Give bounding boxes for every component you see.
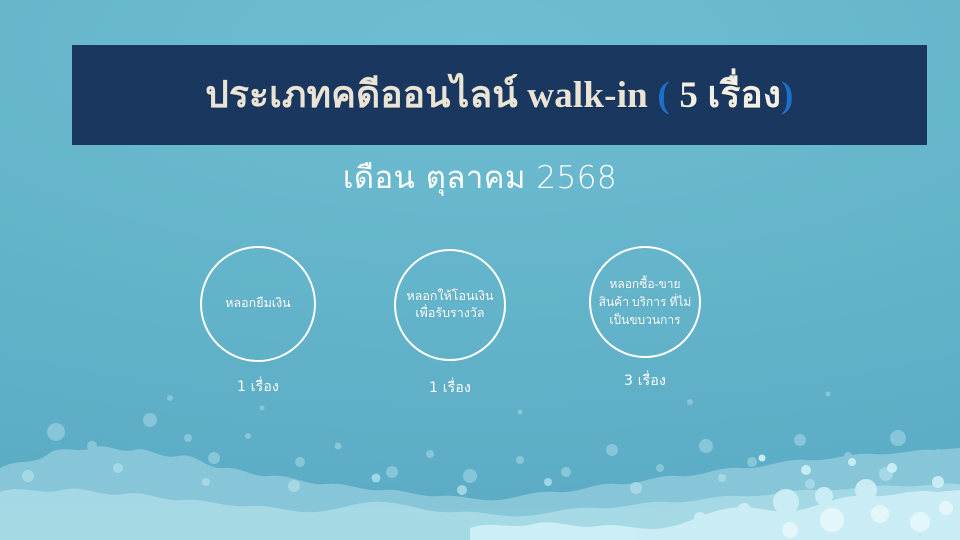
category-circles-row: หลอกยืมเงิน 1 เรื่อง หลอกให้โอนเงิน เพื่… — [0, 246, 960, 416]
circle-outline-0: หลอกยืมเงิน — [200, 246, 316, 362]
category-label-1: หลอกให้โอนเงิน เพื่อรับรางวัล — [400, 288, 499, 323]
page-title: ประเภทคดีออนไลน์ walk-in ( 5 เรื่อง) — [205, 77, 793, 114]
category-count-2: 3 เรื่อง — [565, 370, 725, 392]
page-subtitle: เดือน ตุลาคม 2568 — [0, 152, 960, 202]
category-node-0[interactable]: หลอกยืมเงิน 1 เรื่อง — [178, 246, 338, 398]
circle-outline-1: หลอกให้โอนเงิน เพื่อรับรางวัล — [394, 249, 506, 361]
title-paren-close: ) — [781, 75, 794, 116]
category-label-2: หลอกซื้อ-ขาย สินค้า บริการ ที่ไม่ เป็นขบ… — [593, 275, 698, 329]
category-count-1: 1 เรื่อง — [370, 377, 530, 399]
slide-canvas: ประเภทคดีออนไลน์ walk-in ( 5 เรื่อง) เดื… — [0, 0, 960, 540]
category-node-2[interactable]: หลอกซื้อ-ขาย สินค้า บริการ ที่ไม่ เป็นขบ… — [565, 246, 725, 392]
category-node-1[interactable]: หลอกให้โอนเงิน เพื่อรับรางวัล 1 เรื่อง — [370, 249, 530, 399]
title-bar: ประเภทคดีออนไลน์ walk-in ( 5 เรื่อง) — [72, 45, 927, 145]
title-count-text: 5 เรื่อง — [670, 75, 781, 116]
circle-outline-2: หลอกซื้อ-ขาย สินค้า บริการ ที่ไม่ เป็นขบ… — [589, 246, 701, 358]
title-main-text: ประเภทคดีออนไลน์ walk-in — [205, 75, 657, 116]
category-label-0: หลอกยืมเงิน — [219, 295, 296, 312]
category-count-0: 1 เรื่อง — [178, 376, 338, 398]
title-paren-open: ( — [657, 75, 670, 116]
